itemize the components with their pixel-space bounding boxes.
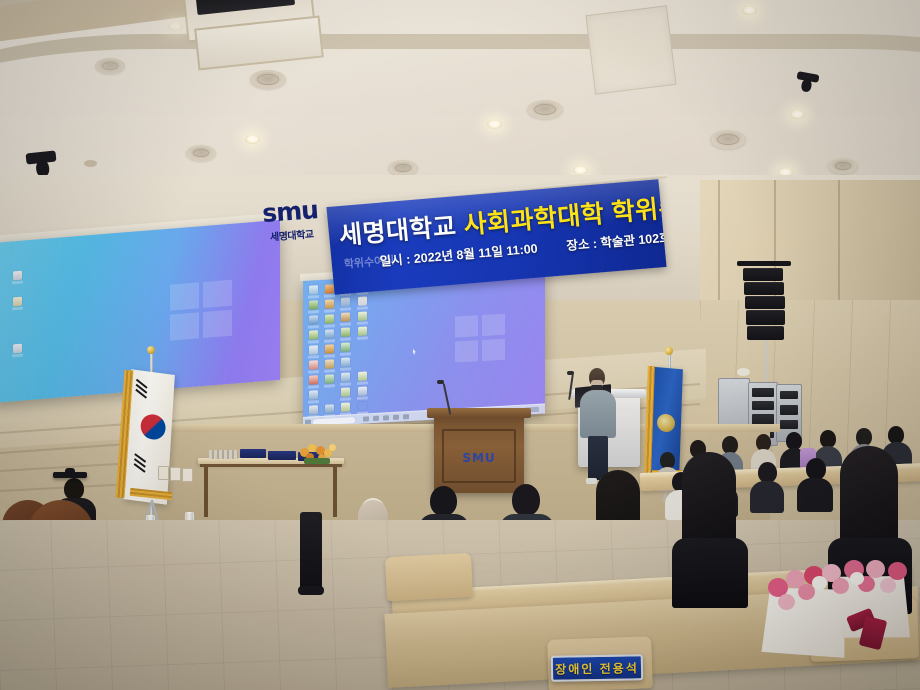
- accessible-seat-sign: 장애인 전용석: [551, 654, 643, 682]
- attendee-hair: [840, 446, 898, 552]
- desktop-icon[interactable]: [325, 329, 334, 339]
- wooden-podium: SMU: [434, 415, 524, 493]
- ceiling-speaker-vent-3: [710, 130, 746, 149]
- desktop-icon[interactable]: [358, 326, 367, 336]
- desktop-icon[interactable]: [341, 372, 350, 382]
- banner-org-name: 세명대학교: [338, 212, 458, 250]
- windows-logo-icon: [170, 280, 234, 343]
- desktop-icon[interactable]: [341, 357, 350, 367]
- desktop-icon[interactable]: [309, 300, 318, 310]
- desktop-icon[interactable]: [325, 344, 334, 354]
- desktop-icon[interactable]: [341, 342, 350, 352]
- desktop-icon[interactable]: [309, 330, 318, 340]
- desktop-icon[interactable]: [309, 375, 318, 385]
- taskbar-app-icon[interactable]: [393, 415, 399, 420]
- ceiling-speaker-vent-6: [828, 158, 858, 174]
- podium-mic-head-icon: [437, 380, 444, 384]
- taskbar-app-icon[interactable]: [363, 416, 369, 421]
- desktop-icon[interactable]: [325, 374, 334, 384]
- podium-top: [427, 408, 531, 418]
- desktop-icon[interactable]: [325, 284, 334, 294]
- podium-emblem: SMU: [434, 451, 524, 465]
- banner-place-label: 장소: [566, 237, 590, 253]
- windows-logo-icon: [455, 314, 507, 365]
- taskbar-app-icon[interactable]: [383, 415, 389, 420]
- desktop-icon[interactable]: [325, 404, 334, 414]
- ceiling-downlight-7: [168, 22, 183, 31]
- desktop-icon[interactable]: [358, 386, 367, 396]
- wall-outlet-icon: [158, 466, 169, 480]
- lectern-mic-head-icon: [567, 371, 574, 375]
- chair-back: [385, 553, 473, 601]
- ceiling-sensor-icon: [84, 160, 97, 167]
- mouse-cursor-icon: [413, 349, 416, 355]
- smu-logo-mark: smu: [256, 197, 324, 227]
- desktop-icon[interactable]: [358, 401, 367, 411]
- ceiling-downlight-4: [245, 135, 260, 144]
- presenter-jacket: [580, 390, 616, 438]
- taskbar-app-icon[interactable]: [403, 414, 409, 419]
- smu-logo-sub: 세명대학교: [258, 225, 325, 245]
- ceiling-speaker-vent-5: [388, 160, 418, 176]
- ceiling-downlight-1: [742, 6, 757, 15]
- attendee-hair: [682, 452, 736, 552]
- auditorium-photo: smu 세명대학교 세명대학교 사회과학대학 학위수여식 학위수여식 일시 : …: [0, 0, 920, 690]
- award-table-apron: [200, 464, 342, 467]
- award-table-leg-2: [333, 467, 337, 517]
- desktop-icon[interactable]: [13, 271, 22, 281]
- desktop-icon[interactable]: [325, 359, 334, 369]
- diploma-case: [240, 449, 266, 458]
- korea-flag-finial-icon: [147, 346, 155, 354]
- banner-sep-1: :: [406, 252, 411, 266]
- banner-sep-2: :: [592, 237, 597, 251]
- ceiling-downlight-5: [573, 166, 588, 175]
- ceiling-speaker-vent-1: [250, 70, 286, 89]
- desktop-icon[interactable]: [309, 390, 318, 400]
- banner-place-value: 학술관 102호: [600, 230, 667, 250]
- banner-date-label: 일시: [379, 253, 403, 269]
- accessible-seat-label: 장애인 전용석: [555, 659, 639, 677]
- university-emblem-icon: [657, 413, 676, 433]
- desktop-icon[interactable]: [358, 311, 367, 321]
- standing-person-legs: [300, 512, 322, 590]
- desktop-icon[interactable]: [309, 360, 318, 370]
- desktop-icon[interactable]: [325, 299, 334, 309]
- desktop-icon[interactable]: [325, 314, 334, 324]
- desktop-icon[interactable]: [358, 371, 367, 381]
- desktop-icon[interactable]: [309, 345, 318, 355]
- desktop-icon[interactable]: [13, 297, 22, 307]
- desktop-icon[interactable]: [13, 344, 22, 354]
- desktop-icon[interactable]: [341, 297, 350, 307]
- flower-arrangement: [298, 442, 338, 464]
- ceiling-downlight-3: [790, 110, 805, 119]
- presenter-shoe: [586, 478, 597, 484]
- taeguk-symbol-icon: [137, 411, 170, 443]
- standing-person-shoe: [298, 586, 324, 595]
- desktop-icon[interactable]: [309, 315, 318, 325]
- taskbar-app-icon[interactable]: [373, 416, 379, 421]
- mortarboard-icon: [53, 472, 87, 478]
- university-flag-finial-icon: [665, 347, 673, 355]
- ceiling-speaker-vent-4: [186, 145, 216, 161]
- ceiling-access-panel: [585, 5, 676, 94]
- ceiling-downlight-2: [487, 120, 502, 129]
- desktop-icon[interactable]: [341, 387, 350, 397]
- banner-date-value: 2022년 8월 11일 11:00: [413, 242, 538, 266]
- desktop-icon[interactable]: [358, 296, 367, 306]
- wall-outlet-icon: [182, 468, 193, 482]
- award-table-leg-1: [204, 467, 208, 517]
- desktop-icon[interactable]: [309, 405, 318, 415]
- desktop-icon[interactable]: [341, 402, 350, 412]
- desktop-icon[interactable]: [341, 312, 350, 322]
- desktop-icon[interactable]: [309, 285, 318, 295]
- wall-outlet-icon: [170, 467, 181, 481]
- ceiling-speaker-vent-2: [527, 100, 563, 119]
- ceiling-speaker-vent-7: [95, 58, 125, 74]
- trophy-row: [209, 450, 238, 459]
- rack-light-icon: [737, 368, 750, 376]
- line-array-speaker: [742, 268, 786, 342]
- desktop-icon[interactable]: [341, 327, 350, 337]
- smu-logo: smu 세명대학교: [256, 197, 325, 253]
- diploma-case: [268, 451, 296, 460]
